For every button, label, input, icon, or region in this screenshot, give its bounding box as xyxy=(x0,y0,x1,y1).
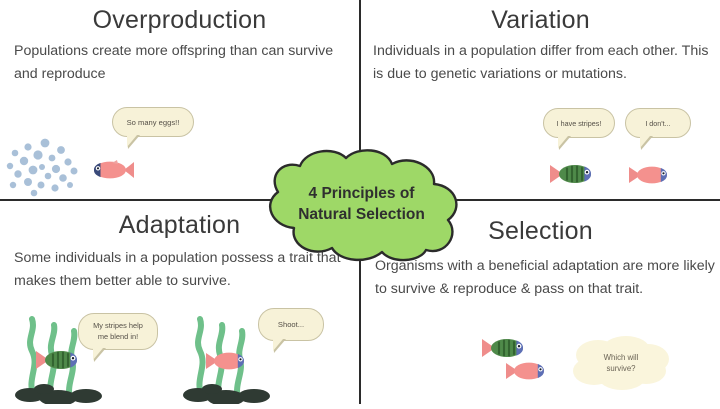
speech-bubble-text: I have stripes! xyxy=(557,119,602,128)
fish-pink-visible xyxy=(203,348,253,374)
speech-bubble-so-many-eggs: So many eggs!! xyxy=(112,107,194,137)
bubble-tail xyxy=(273,339,286,353)
quadrant-body-variation: Individuals in a population differ from … xyxy=(373,40,711,86)
bubble-tail xyxy=(558,136,571,150)
speech-bubble-text: Shoot... xyxy=(278,320,304,329)
infographic-canvas: Overproduction Populations create more o… xyxy=(0,0,720,404)
bubble-tail xyxy=(93,348,106,362)
fish-pink-right-facing xyxy=(626,162,676,188)
fish-striped-green-camouflaged xyxy=(33,346,85,374)
quadrant-title-overproduction: Overproduction xyxy=(0,8,359,33)
speech-bubble-line-2: me blend in! xyxy=(98,332,138,343)
speech-bubble-shoot: Shoot... xyxy=(258,308,324,341)
speech-bubble-i-dont: I don't... xyxy=(625,108,691,138)
egg-cluster-illustration xyxy=(4,138,96,205)
quadrant-title-variation: Variation xyxy=(361,8,720,33)
fish-pink-selection xyxy=(503,358,553,384)
fish-pink-left-facing xyxy=(88,157,134,183)
thought-cloud-which-will-survive: Which will survive? xyxy=(568,335,674,391)
quadrant-body-overproduction: Populations create more offspring than c… xyxy=(14,40,346,86)
bubble-tail xyxy=(640,136,653,150)
speech-bubble-stripes-blend-in: My stripes help me blend in! xyxy=(78,313,158,350)
center-cloud-natural-selection: 4 Principles of Natural Selection xyxy=(256,146,467,263)
bubble-tail xyxy=(127,135,140,149)
speech-bubble-text: So many eggs!! xyxy=(127,118,180,127)
speech-bubble-text: I don't... xyxy=(645,119,670,128)
speech-bubble-i-have-stripes: I have stripes! xyxy=(543,108,615,138)
speech-bubble-line-1: My stripes help xyxy=(93,321,143,332)
fish-striped-green-right-facing xyxy=(547,160,599,188)
